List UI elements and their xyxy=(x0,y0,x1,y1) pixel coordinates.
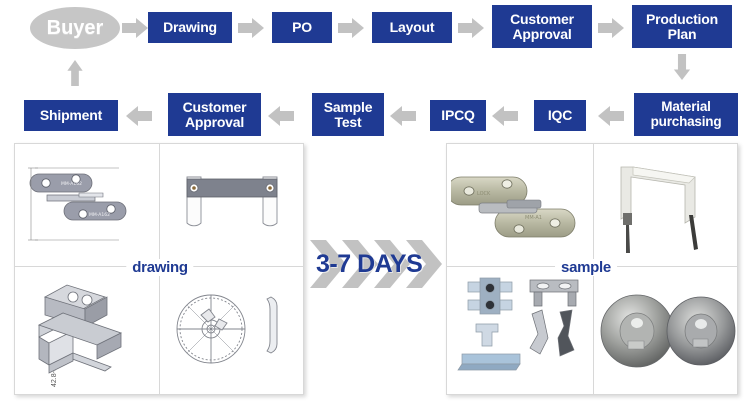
arrow-left-glyph xyxy=(598,105,624,127)
stamped-parts-photo-icon xyxy=(450,272,590,390)
disc-profile-drawing-icon xyxy=(163,275,301,387)
arrow-right-glyph xyxy=(122,17,148,39)
sample-cell-stamped-parts xyxy=(447,267,593,395)
flow-node-production-plan[interactable]: Production Plan xyxy=(632,5,732,48)
sample-cell-metal-hinge: LOCK MM-A1 xyxy=(447,144,593,266)
arrow-left-icon-iqc-to-ipcq xyxy=(492,105,518,127)
arrow-right-icon-layout-to-customer-approval xyxy=(458,17,484,39)
svg-text:MM-A162: MM-A162 xyxy=(89,212,110,218)
arrow-right-icon-po-to-layout xyxy=(338,17,364,39)
flow-node-buyer[interactable]: Buyer xyxy=(30,7,120,49)
drawing-cell-bracket-strap xyxy=(160,144,304,266)
flow-node-iqc[interactable]: IQC xyxy=(534,100,586,131)
drawing-panel-label: drawing xyxy=(126,259,193,276)
arrow-left-glyph xyxy=(126,105,152,127)
flow-node-sample-test[interactable]: Sample Test xyxy=(312,93,384,136)
metal-discs-photo-icon xyxy=(597,275,737,387)
svg-text:LOCK: LOCK xyxy=(477,191,491,197)
flow-node-customer-approval-top[interactable]: Customer Approval xyxy=(492,5,592,48)
arrow-left-icon-ipcq-to-sample-test xyxy=(390,105,416,127)
flow-node-layout[interactable]: Layout xyxy=(372,12,452,43)
svg-text:MM-A162: MM-A162 xyxy=(61,181,82,187)
arrow-right-glyph xyxy=(338,17,364,39)
svg-text:MM-A1: MM-A1 xyxy=(525,215,542,221)
drawing-cell-disc-and-profile xyxy=(160,267,304,395)
arrow-down-icon-production-plan-to-material xyxy=(671,54,693,80)
arrow-up-glyph xyxy=(64,60,86,86)
flow-node-customer-approval-bottom[interactable]: Customer Approval xyxy=(168,93,261,136)
arrow-right-glyph xyxy=(458,17,484,39)
arrow-right-glyph xyxy=(598,17,624,39)
flow-node-shipment[interactable]: Shipment xyxy=(24,100,118,131)
white-bracket-photo-icon xyxy=(601,151,733,259)
channel-bracket-drawing-icon xyxy=(21,273,153,389)
arrow-left-icon-material-to-iqc xyxy=(598,105,624,127)
flow-node-drawing[interactable]: Drawing xyxy=(148,12,232,43)
lead-time-label: 3-7 DAYS xyxy=(316,250,422,279)
arrow-down-glyph xyxy=(671,54,693,80)
drawing-cell-channel-bracket xyxy=(15,267,159,395)
flow-node-ipcq[interactable]: IPCQ xyxy=(430,100,486,131)
bracket-strap-drawing-icon xyxy=(167,155,297,255)
hinge-assembly-drawing-icon: MM-A162 MM-A162 xyxy=(17,146,157,264)
metal-hinge-photo-icon: LOCK MM-A1 xyxy=(451,153,589,257)
sample-cell-white-bracket xyxy=(594,144,739,266)
arrow-up-icon-shipment-to-buyer xyxy=(64,60,86,86)
flow-node-buyer-label: Buyer xyxy=(47,17,104,40)
arrow-right-icon-buyer-to-drawing xyxy=(122,17,148,39)
arrow-left-glyph xyxy=(268,105,294,127)
sample-cell-metal-discs xyxy=(594,267,739,395)
arrow-left-icon-customer-approval-to-shipment xyxy=(126,105,152,127)
arrow-right-icon-drawing-to-po xyxy=(238,17,264,39)
flow-node-material-purchasing[interactable]: Material purchasing xyxy=(634,93,738,136)
drawing-cell-hinge-assembly: MM-A162 MM-A162 xyxy=(15,144,159,266)
arrow-left-glyph xyxy=(492,105,518,127)
flow-node-po[interactable]: PO xyxy=(272,12,332,43)
arrow-left-glyph xyxy=(390,105,416,127)
sample-panel-label: sample xyxy=(555,259,617,276)
arrow-right-glyph xyxy=(238,17,264,39)
arrow-left-icon-sample-test-to-customer-approval xyxy=(268,105,294,127)
arrow-right-icon-customer-approval-to-production-plan xyxy=(598,17,624,39)
